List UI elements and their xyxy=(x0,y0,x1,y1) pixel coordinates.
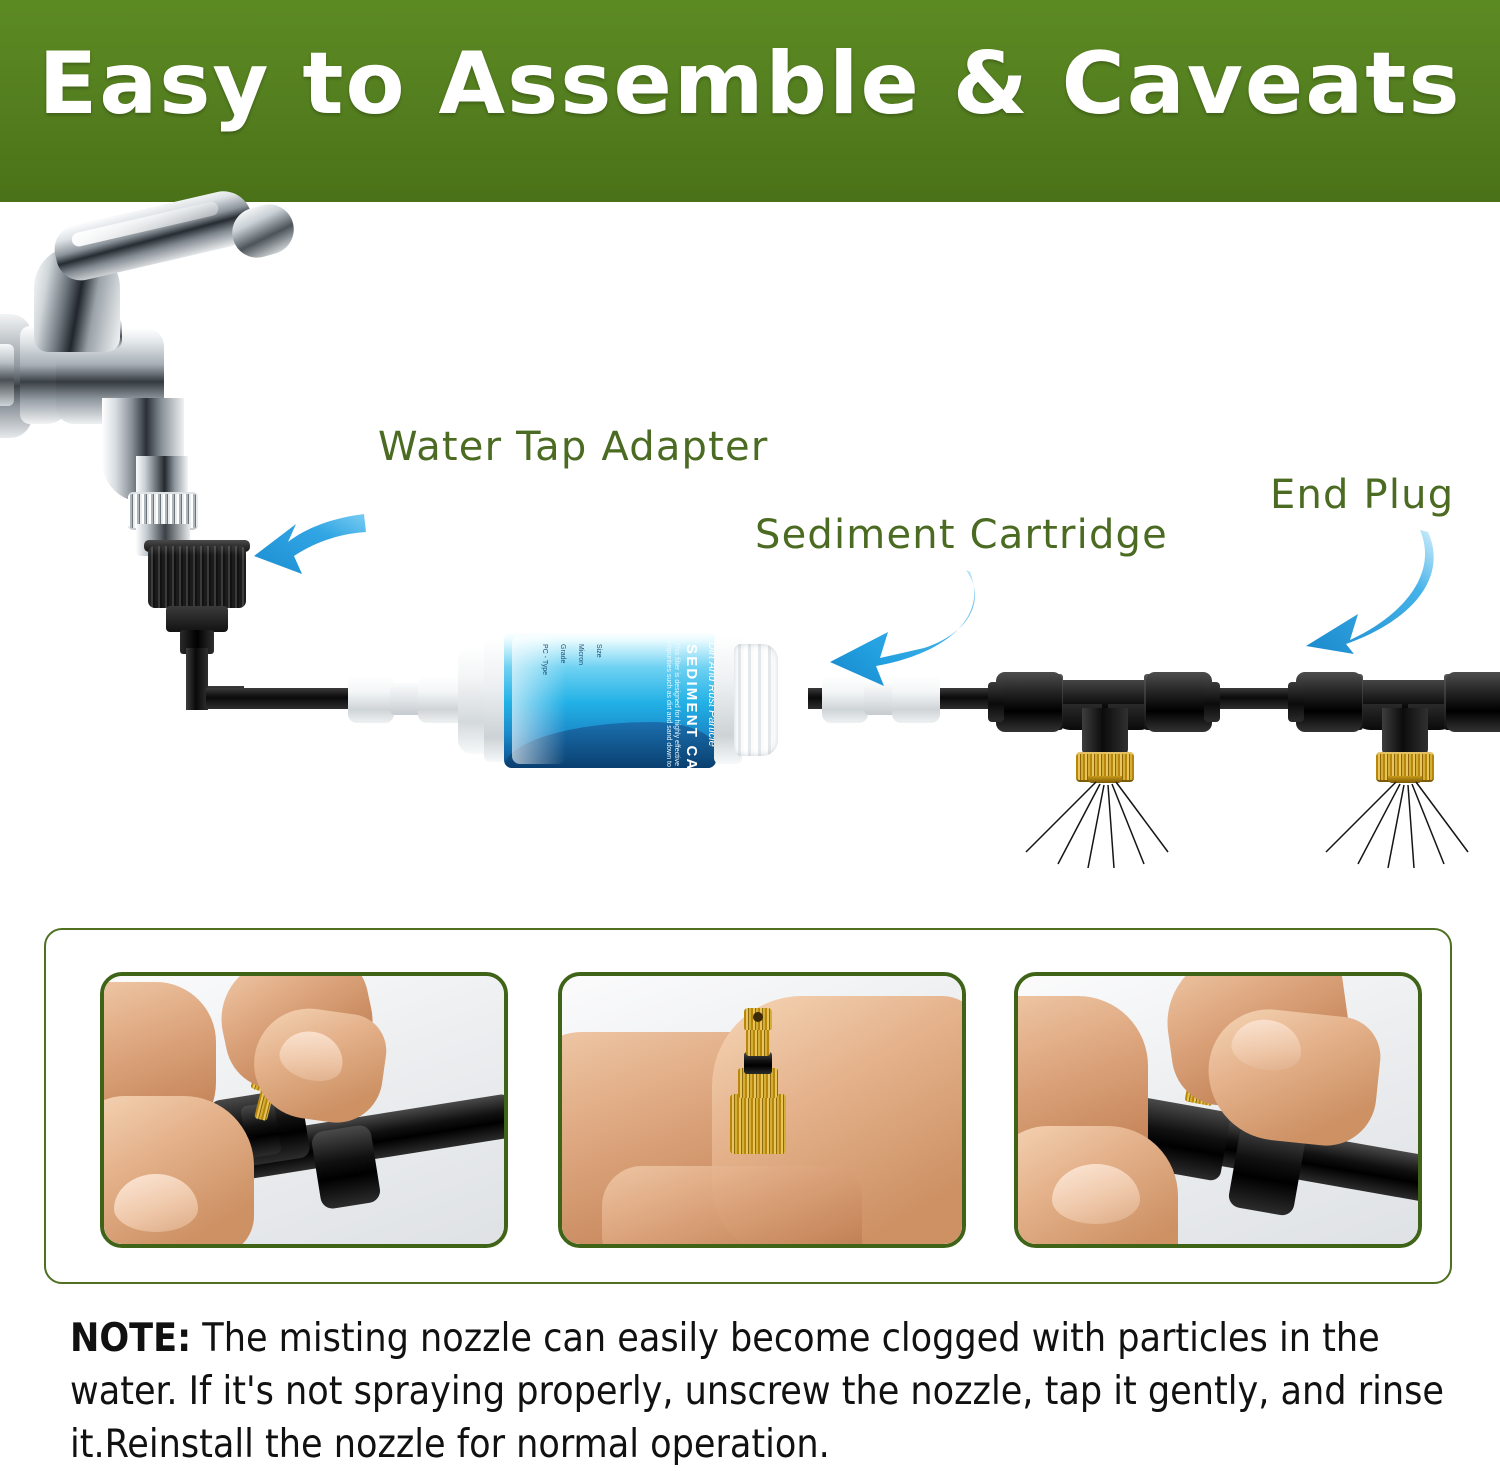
sediment-cartridge-part: SEDIMENT CARTRIDGE For Remove Of Sand Di… xyxy=(458,632,778,768)
tee-nozzle-assembly-1 xyxy=(988,652,1220,862)
photo-brass-nozzle-closeup xyxy=(558,972,966,1248)
photo-row xyxy=(46,930,1450,1282)
hose-segment-1 xyxy=(206,688,358,709)
tee-connector-left xyxy=(1296,672,1362,732)
brass-nozzle-knurl xyxy=(730,1094,786,1154)
cartridge-spec-2: Micron xyxy=(577,644,584,665)
note-body: The misting nozzle can easily become clo… xyxy=(70,1316,1444,1467)
cartridge-spec-1: Size xyxy=(595,644,602,658)
tee-connector-right-collar xyxy=(1204,682,1220,722)
tap-adapter xyxy=(148,546,246,608)
photo-panel xyxy=(44,928,1452,1284)
arrow-to-tap-adapter-icon xyxy=(236,498,366,608)
cartridge-thread-right xyxy=(734,644,778,756)
nozzle-thread xyxy=(746,1028,770,1056)
assembly-diagram: SEDIMENT CARTRIDGE For Remove Of Sand Di… xyxy=(0,202,1500,914)
arrow-to-sediment-cartridge-icon xyxy=(818,566,998,696)
tee-nozzle-assembly-2 xyxy=(1288,652,1500,862)
nozzle-orifice xyxy=(753,1012,763,1022)
spray-lines xyxy=(1288,778,1500,868)
faucet-inlet-nut xyxy=(0,344,14,406)
photo-insert-nozzle xyxy=(100,972,508,1248)
tee-connector-left-collar xyxy=(1288,682,1304,722)
tee-downspout xyxy=(1082,708,1128,756)
hose-vertical xyxy=(186,648,208,710)
label-end-plug: End Plug xyxy=(1270,472,1454,518)
tee-downspout xyxy=(1382,708,1428,756)
tee-connector-left xyxy=(996,672,1062,732)
cartridge-title-text: SEDIMENT CARTRIDGE xyxy=(683,644,700,768)
note-text: NOTE: The misting nozzle can easily beco… xyxy=(70,1312,1450,1471)
tap-adapter-collar xyxy=(166,606,228,632)
spray-lines xyxy=(988,778,1220,868)
cartridge-body: SEDIMENT CARTRIDGE For Remove Of Sand Di… xyxy=(504,632,716,768)
header-banner: Easy to Assemble & Caveats xyxy=(0,0,1500,202)
tee-connector2-in-photo xyxy=(310,1124,381,1210)
label-sediment-cartridge: Sediment Cartridge xyxy=(755,512,1168,558)
page-title: Easy to Assemble & Caveats xyxy=(0,34,1500,134)
cartridge-fineprint-1: This filter is designed for highly effec… xyxy=(673,642,680,768)
cartridge-gloss xyxy=(512,636,566,764)
cartridge-spec-4: PC - Type xyxy=(541,644,548,675)
palm xyxy=(602,1166,862,1248)
cartridge-shoulder-left xyxy=(484,638,506,762)
note-prefix: NOTE: xyxy=(70,1316,191,1361)
quick-connector-left-a xyxy=(348,675,394,723)
cartridge-spec-3: Grade xyxy=(559,644,566,663)
label-water-tap-adapter: Water Tap Adapter xyxy=(378,424,768,470)
end-plug-fitting xyxy=(1446,672,1500,732)
cartridge-fineprint-2: impurities such as dirt and sand down to… xyxy=(665,642,672,768)
photo-tighten-nozzle xyxy=(1014,972,1422,1248)
arrow-to-end-plug-icon xyxy=(1288,528,1448,658)
tee-connector-right xyxy=(1146,672,1212,732)
